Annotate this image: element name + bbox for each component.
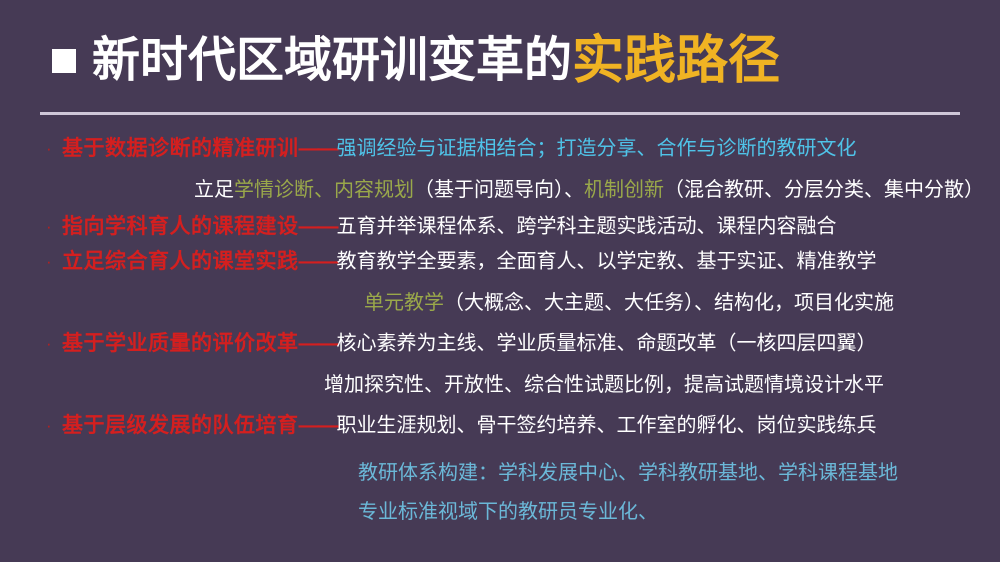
sub-line: 立足学情诊断、内容规划（基于问题导向）、机制创新（混合教研、分层分类、集中分散） xyxy=(46,173,976,202)
bullet-heading: 基于层级发展的队伍培育 xyxy=(62,414,299,437)
bullet-description: 教育教学全要素，全面育人、以学定教、基于实证、精准教学 xyxy=(337,251,877,273)
bullet-dash: —— xyxy=(299,414,337,437)
bullet-heading: 指向学科育人的课程建设 xyxy=(62,215,299,238)
bullet-dash: —— xyxy=(299,332,337,355)
bullet-dash: —— xyxy=(299,137,337,160)
bullet-heading: 基于学业质量的评价改革 xyxy=(62,332,299,355)
footnote-line: 教研体系构建：学科发展中心、学科教研基地、学科课程基地 xyxy=(358,456,976,485)
title-main-text: 新时代区域研训变革的 xyxy=(92,37,572,85)
footnote-block: 教研体系构建：学科发展中心、学科教研基地、学科课程基地 专业标准视域下的教研员专… xyxy=(46,456,976,524)
sub-line: 单元教学（大概念、大主题、大任务）、结构化，项目化实施 xyxy=(46,286,976,315)
list-item: ·立足综合育人的课堂实践——教育教学全要素，全面育人、以学定教、基于实证、精准教… xyxy=(46,251,976,272)
bullet-heading: 立足综合育人的课堂实践 xyxy=(62,250,299,273)
sub-segment: （混合教研、分层分类、集中分散） xyxy=(664,179,984,201)
body-content: ·基于数据诊断的精准研训——强调经验与证据相结合；打造分享、合作与诊断的教研文化… xyxy=(46,138,976,524)
bullet-marker: · xyxy=(46,335,62,352)
sub-segment: （基于问题导向）、 xyxy=(414,179,584,201)
square-bullet-icon xyxy=(52,49,76,73)
bullet-description: 核心素养为主线、学业质量标准、命题改革（一核四层四翼） xyxy=(337,333,877,355)
bullet-heading: 基于数据诊断的精准研训 xyxy=(62,137,299,160)
title-divider xyxy=(40,112,960,115)
list-item: ·基于数据诊断的精准研训——强调经验与证据相结合；打造分享、合作与诊断的教研文化 xyxy=(46,138,976,159)
title-accent-text: 实践路径 xyxy=(572,35,780,87)
sub-segment: 立足 xyxy=(194,179,234,201)
sub-segment-highlight: 学情诊断、内容规划 xyxy=(234,179,414,201)
bullet-marker: · xyxy=(46,417,62,434)
sub-segment-highlight: 单元教学 xyxy=(364,292,444,314)
sub-line: 增加探究性、开放性、综合性试题比例，提高试题情境设计水平 xyxy=(46,368,976,397)
slide-canvas: 新时代区域研训变革的 实践路径 ·基于数据诊断的精准研训——强调经验与证据相结合… xyxy=(0,0,1000,562)
list-item: ·指向学科育人的课程建设——五育并举课程体系、跨学科主题实践活动、课程内容融合 xyxy=(46,216,976,237)
sub-segment: 增加探究性、开放性、综合性试题比例，提高试题情境设计水平 xyxy=(324,374,884,396)
bullet-marker: · xyxy=(46,140,62,157)
bullet-description: 五育并举课程体系、跨学科主题实践活动、课程内容融合 xyxy=(337,216,837,238)
slide-title: 新时代区域研训变革的 实践路径 xyxy=(52,30,780,92)
bullet-marker: · xyxy=(46,218,62,235)
bullet-description: 职业生涯规划、骨干签约培养、工作室的孵化、岗位实践练兵 xyxy=(337,415,877,437)
sub-segment-highlight: 机制创新 xyxy=(584,179,664,201)
list-item: ·基于学业质量的评价改革——核心素养为主线、学业质量标准、命题改革（一核四层四翼… xyxy=(46,333,976,354)
list-item: ·基于层级发展的队伍培育——职业生涯规划、骨干签约培养、工作室的孵化、岗位实践练… xyxy=(46,415,976,436)
footnote-line: 专业标准视域下的教研员专业化、 xyxy=(358,495,976,524)
bullet-dash: —— xyxy=(299,215,337,238)
bullet-marker: · xyxy=(46,253,62,270)
sub-segment: （大概念、大主题、大任务）、结构化，项目化实施 xyxy=(444,292,894,314)
bullet-description: 强调经验与证据相结合；打造分享、合作与诊断的教研文化 xyxy=(337,138,857,160)
bullet-dash: —— xyxy=(299,250,337,273)
